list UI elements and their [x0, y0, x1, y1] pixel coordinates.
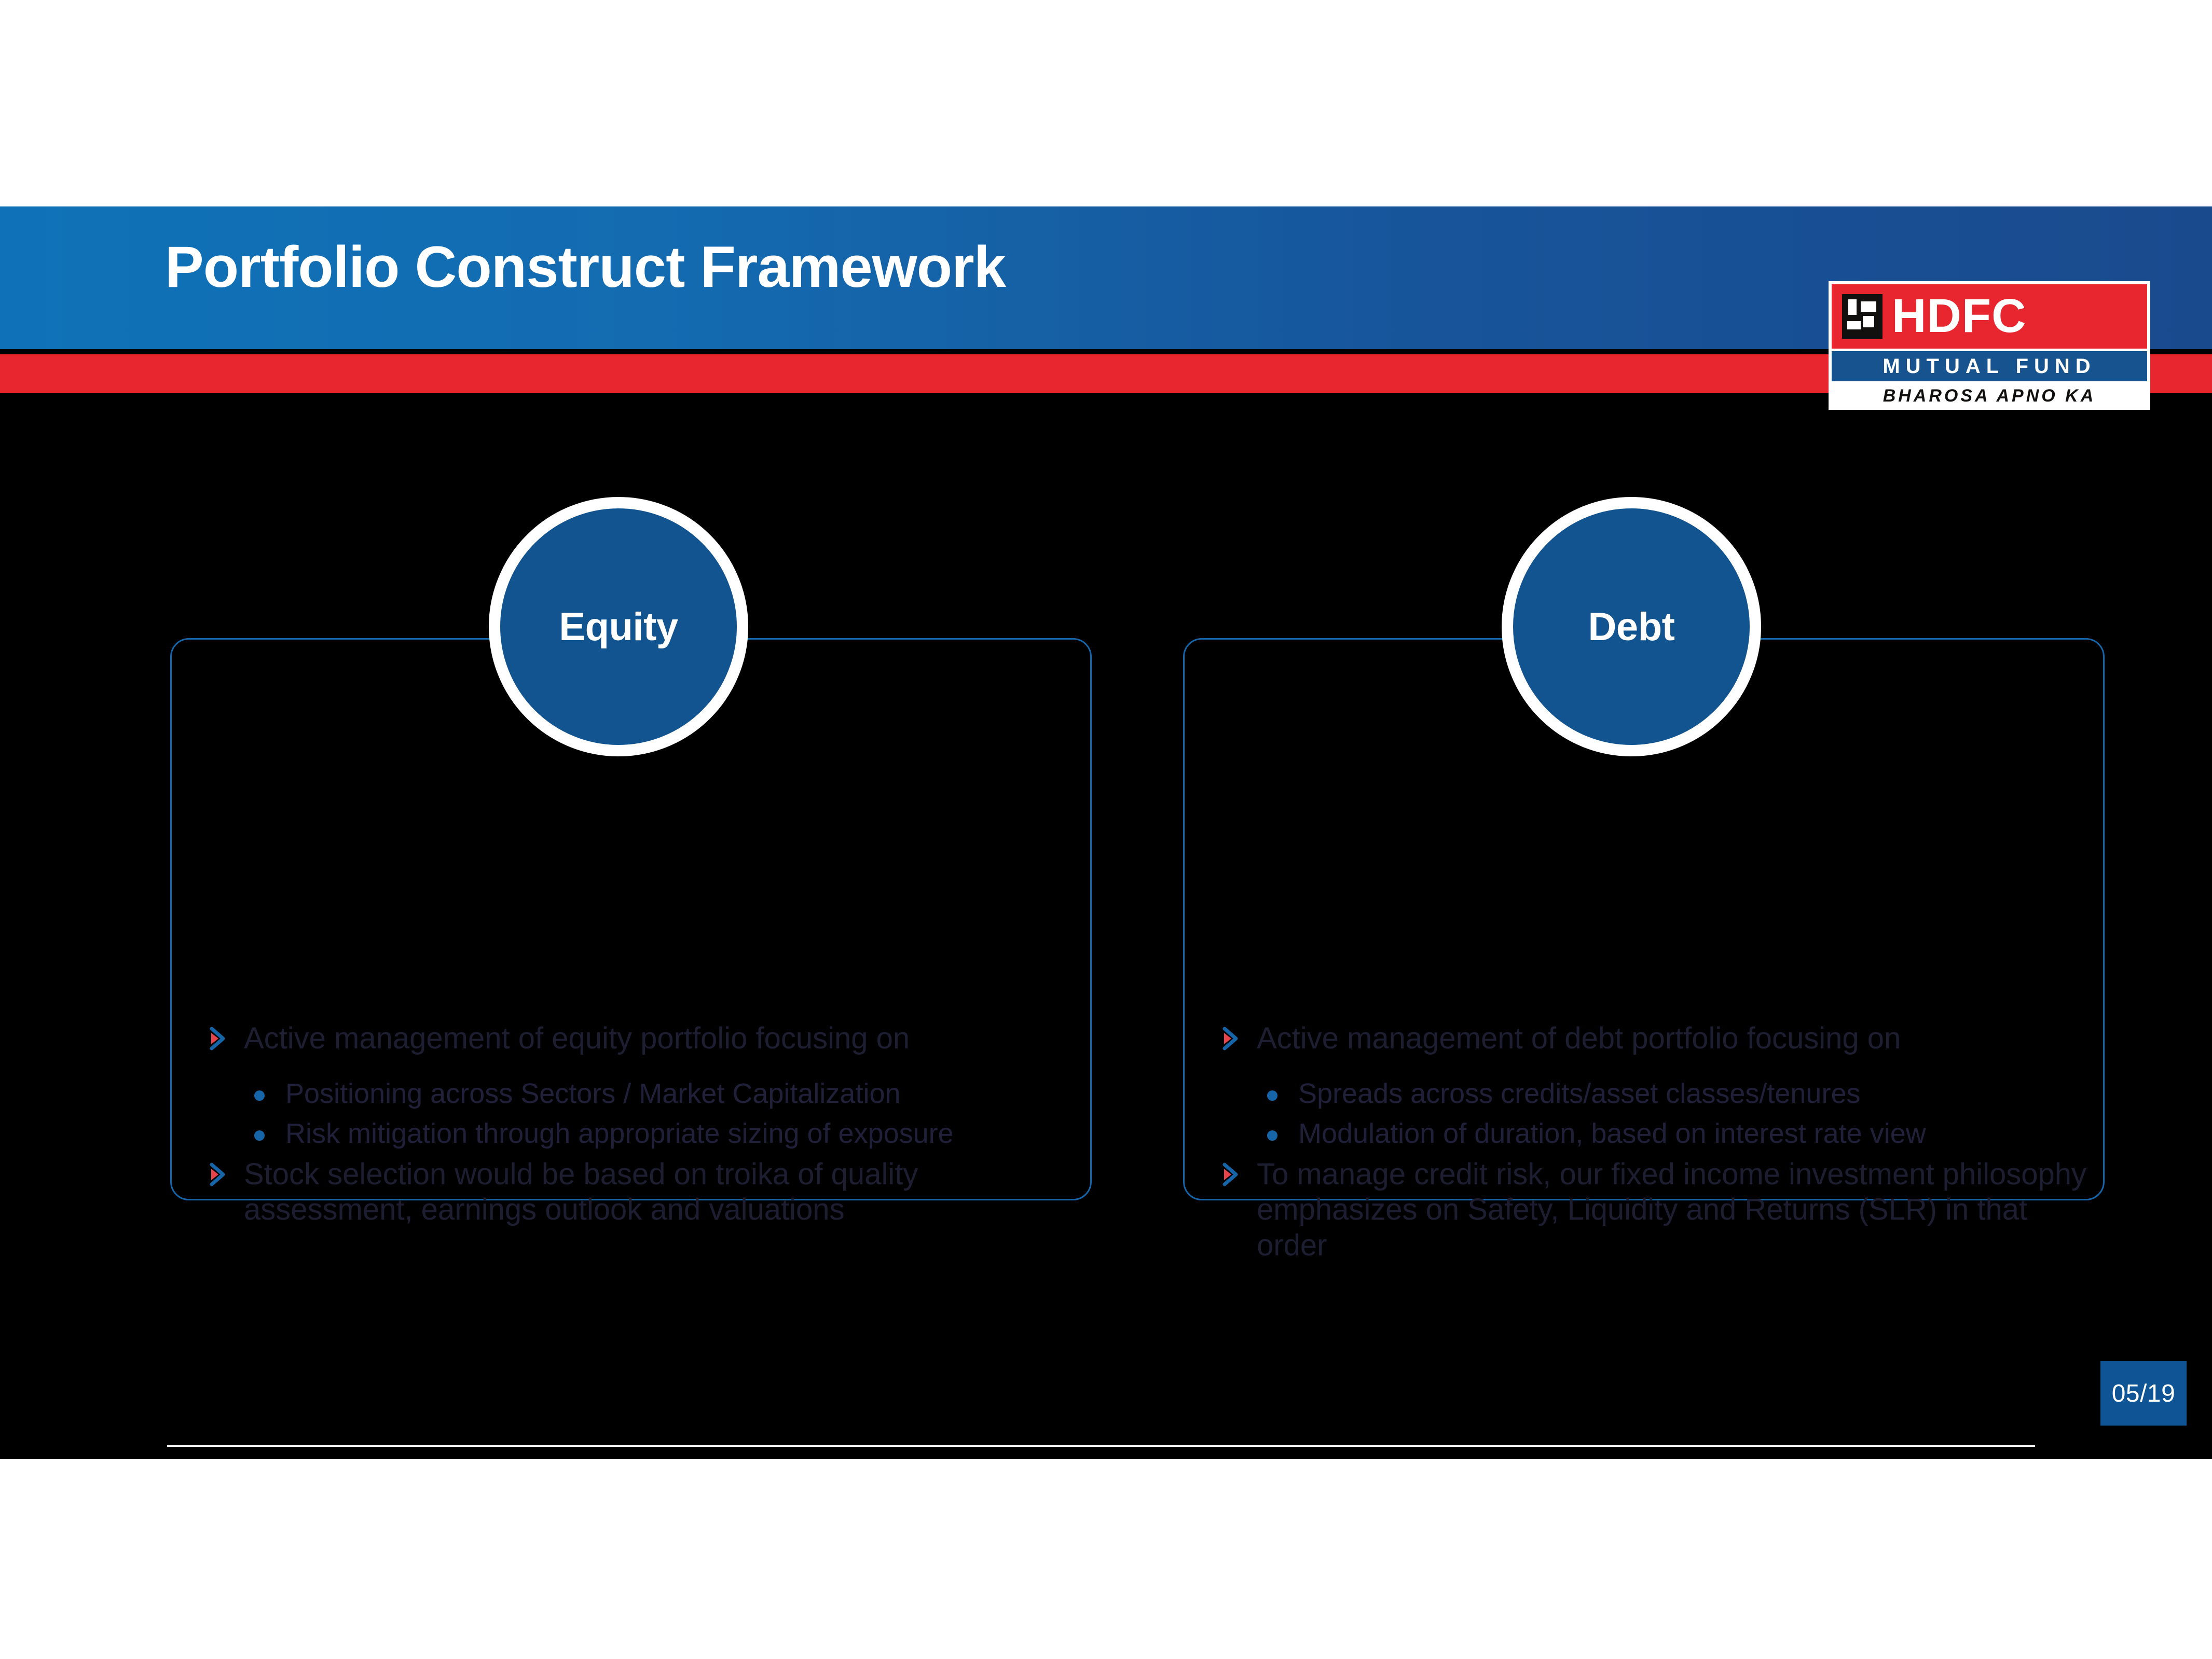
sub-bullet-item: Spreads across credits/asset classes/ten… [1263, 1077, 2103, 1111]
bullet-item: Active management of equity portfolio fo… [208, 1021, 1090, 1056]
dot-bullet-icon [1267, 1130, 1277, 1141]
bullet-text: Stock selection would be based on troika… [244, 1157, 918, 1226]
hdfc-logo: HDFC MUTUAL FUND BHAROSA APNO KA [1829, 281, 2150, 410]
sub-bullet-text: Positioning across Sectors / Market Capi… [285, 1078, 901, 1109]
page-title: Portfolio Construct Framework [165, 235, 1006, 299]
dot-bullet-icon [254, 1090, 265, 1101]
bullet-spacer [208, 1064, 1090, 1077]
debt-bullet-list: Active management of debt portfolio focu… [1220, 1021, 2103, 1271]
equity-pillar-label: Equity [559, 604, 678, 649]
dot-bullet-icon [1267, 1090, 1277, 1101]
bullet-text: To manage credit risk, our fixed income … [1257, 1157, 2086, 1262]
hdfc-logo-tagline: BHAROSA APNO KA [1832, 383, 2147, 408]
chevron-bullet-icon [1220, 1025, 1244, 1052]
hdfc-logo-wordmark-row: HDFC [1832, 284, 2147, 349]
sub-bullet-text: Risk mitigation through appropriate sizi… [285, 1118, 954, 1149]
sub-bullet-item: Positioning across Sectors / Market Capi… [250, 1077, 1090, 1111]
chevron-bullet-icon [208, 1025, 231, 1052]
equity-bullet-list: Active management of equity portfolio fo… [208, 1021, 1090, 1236]
debt-sub-bullets: Spreads across credits/asset classes/ten… [1220, 1077, 2103, 1151]
debt-pillar-label: Debt [1588, 604, 1675, 649]
hdfc-wordmark: HDFC [1892, 294, 2027, 339]
bullet-item: Active management of debt portfolio focu… [1220, 1021, 2103, 1056]
bullet-text: Active management of equity portfolio fo… [244, 1021, 910, 1055]
footer-divider [167, 1445, 2035, 1447]
debt-pillar-circle: Debt [1502, 497, 1761, 756]
hdfc-logo-subtitle: MUTUAL FUND [1832, 351, 2147, 381]
sub-bullet-item: Modulation of duration, based on interes… [1263, 1117, 2103, 1151]
bullet-item: Stock selection would be based on troika… [208, 1157, 1090, 1228]
slide-canvas: Portfolio Construct Framework HDFC MUTUA… [0, 206, 2212, 1459]
bullet-item: To manage credit risk, our fixed income … [1220, 1157, 2103, 1263]
sub-bullet-item: Risk mitigation through appropriate sizi… [250, 1117, 1090, 1151]
dot-bullet-icon [254, 1130, 265, 1141]
bullet-text: Active management of debt portfolio focu… [1257, 1021, 1901, 1055]
equity-sub-bullets: Positioning across Sectors / Market Capi… [208, 1077, 1090, 1151]
sub-bullet-text: Spreads across credits/asset classes/ten… [1298, 1078, 1860, 1109]
chevron-bullet-icon [208, 1161, 231, 1188]
page-number-badge: 05/19 [2100, 1361, 2187, 1426]
sub-bullet-text: Modulation of duration, based on interes… [1298, 1118, 1926, 1149]
chevron-bullet-icon [1220, 1161, 1244, 1188]
hdfc-emblem-icon [1842, 294, 1883, 339]
equity-pillar-circle: Equity [489, 497, 748, 756]
bullet-spacer [1220, 1064, 2103, 1077]
